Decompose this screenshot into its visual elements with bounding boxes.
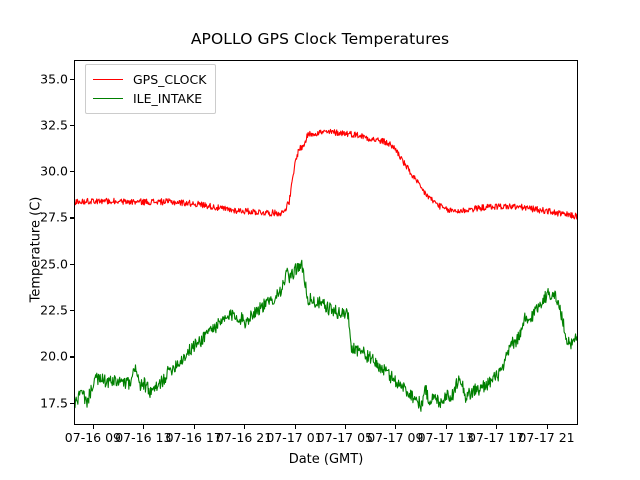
x-tick-mark — [295, 425, 296, 429]
legend-swatch-icon — [93, 79, 123, 80]
series-line-gps_clock — [75, 129, 578, 219]
y-tick-label: 17.5 — [16, 395, 68, 410]
x-tick-label: 07-16 17 — [166, 430, 222, 445]
x-tick-mark — [244, 425, 245, 429]
x-tick-mark — [547, 425, 548, 429]
x-tick-mark — [194, 425, 195, 429]
y-tick-label: 30.0 — [16, 164, 68, 179]
y-tick-label: 35.0 — [16, 71, 68, 86]
x-tick-label: 07-16 13 — [115, 430, 171, 445]
x-tick-label: 07-16 09 — [65, 430, 121, 445]
chart-title: APOLLO GPS Clock Temperatures — [0, 30, 640, 48]
y-tick-label: 27.5 — [16, 210, 68, 225]
x-tick-mark — [93, 425, 94, 429]
x-tick-mark — [143, 425, 144, 429]
series-canvas — [75, 61, 578, 425]
y-tick-label: 25.0 — [16, 256, 68, 271]
y-tick-label: 20.0 — [16, 349, 68, 364]
legend-item-ile_intake[interactable]: ILE_INTAKE — [93, 89, 206, 108]
legend-label: ILE_INTAKE — [133, 91, 202, 106]
y-tick-label: 22.5 — [16, 303, 68, 318]
y-axis-label: Temperature (C) — [29, 120, 44, 380]
x-tick-label: 07-17 17 — [468, 430, 524, 445]
legend-swatch-icon — [93, 98, 123, 99]
x-tick-label: 07-17 05 — [317, 430, 373, 445]
x-tick-label: 07-17 01 — [266, 430, 322, 445]
series-line-ile_intake — [75, 260, 578, 411]
x-tick-mark — [496, 425, 497, 429]
plot-area[interactable] — [74, 60, 578, 425]
x-tick-label: 07-17 09 — [367, 430, 423, 445]
x-tick-label: 07-16 21 — [216, 430, 272, 445]
x-tick-label: 07-17 21 — [518, 430, 574, 445]
legend-item-gps_clock[interactable]: GPS_CLOCK — [93, 70, 206, 89]
matplotlib-figure: APOLLO GPS Clock Temperatures Temperatur… — [0, 0, 640, 480]
x-axis-label: Date (GMT) — [74, 452, 578, 467]
x-tick-mark — [446, 425, 447, 429]
x-tick-mark — [345, 425, 346, 429]
y-tick-label: 32.5 — [16, 117, 68, 132]
legend-label: GPS_CLOCK — [133, 72, 206, 87]
x-tick-mark — [395, 425, 396, 429]
x-tick-label: 07-17 13 — [418, 430, 474, 445]
chart-legend[interactable]: GPS_CLOCKILE_INTAKE — [85, 64, 216, 114]
